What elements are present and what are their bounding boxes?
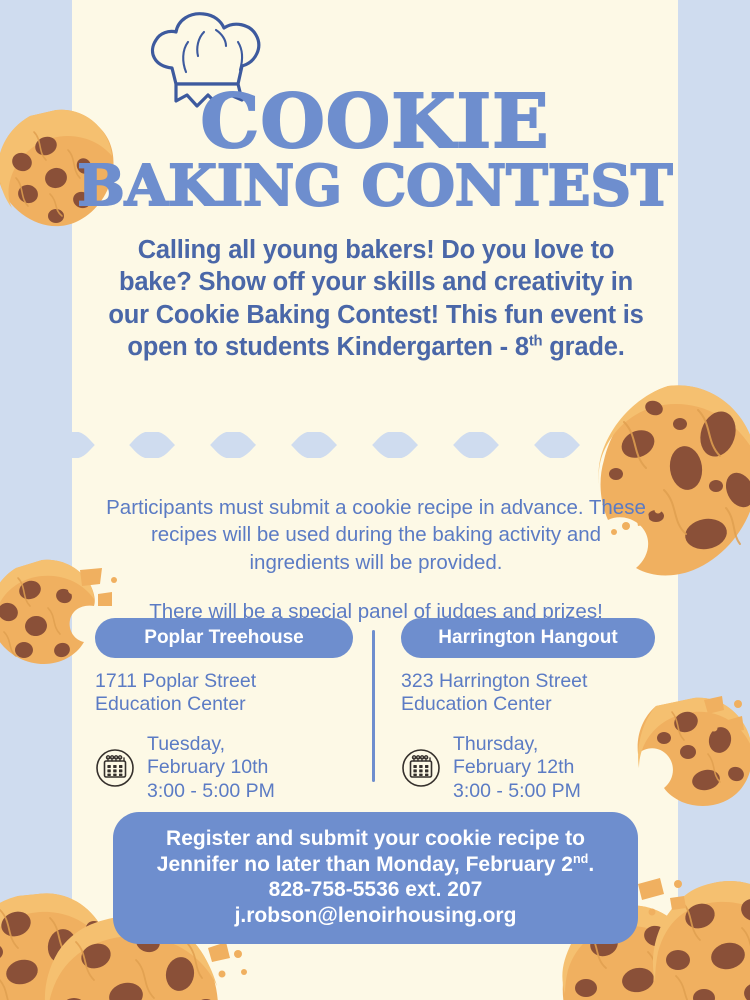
page-title-line1: COOKIE: [72, 88, 678, 156]
register-phone[interactable]: 828-758-5536 ext. 207: [129, 877, 622, 903]
wave-divider-bottom: [72, 433, 678, 459]
event-date: February 12th: [453, 756, 581, 779]
page-title-line2: BAKING CONTEST: [72, 158, 678, 214]
event-time: 3:00 - 5:00 PM: [453, 780, 581, 803]
register-line-2: Jennifer no later than Monday, February …: [129, 852, 622, 878]
event-day: Thursday,: [453, 733, 581, 756]
locations-section: Poplar Treehouse 1711 Poplar Street Educ…: [95, 618, 655, 803]
register-email[interactable]: j.robson@lenoirhousing.org: [129, 903, 622, 929]
intro-paragraph: Calling all young bakers! Do you love to…: [105, 234, 647, 364]
event-time: 3:00 - 5:00 PM: [147, 780, 275, 803]
location-block-harrington-hangout: Harrington Hangout 323 Harrington Street…: [375, 618, 655, 803]
event-date: February 10th: [147, 756, 275, 779]
calendar-icon: [401, 748, 441, 788]
body-paragraph-1: Participants must submit a cookie recipe…: [100, 494, 652, 576]
address-line1: 323 Harrington Street: [401, 670, 655, 693]
address-line2: Education Center: [95, 693, 353, 716]
title-block: COOKIE BAKING CONTEST: [72, 88, 678, 214]
location-schedule-poplar: Tuesday, February 10th 3:00 - 5:00 PM: [95, 733, 353, 803]
location-block-poplar-treehouse: Poplar Treehouse 1711 Poplar Street Educ…: [95, 618, 375, 803]
calendar-icon: [95, 748, 135, 788]
body-block: Participants must submit a cookie recipe…: [100, 494, 652, 625]
location-datetime-poplar: Tuesday, February 10th 3:00 - 5:00 PM: [147, 733, 275, 803]
register-deadline-text: Jennifer no later than Monday, February …: [157, 853, 573, 876]
location-name-pill-harrington[interactable]: Harrington Hangout: [401, 618, 655, 658]
location-address-poplar: 1711 Poplar Street Education Center: [95, 670, 353, 717]
intro-text-after: grade.: [542, 333, 624, 361]
address-line2: Education Center: [401, 693, 655, 716]
crumb-cluster-right: [694, 694, 750, 748]
register-line-1: Register and submit your cookie recipe t…: [129, 826, 622, 852]
registration-callout: Register and submit your cookie recipe t…: [113, 812, 638, 944]
crumb-cluster-botleft: [200, 938, 252, 986]
register-ordinal-suffix: nd: [573, 852, 588, 866]
location-datetime-harrington: Thursday, February 12th 3:00 - 5:00 PM: [453, 733, 581, 803]
location-address-harrington: 323 Harrington Street Education Center: [401, 670, 655, 717]
location-schedule-harrington: Thursday, February 12th 3:00 - 5:00 PM: [401, 733, 655, 803]
intro-ordinal-suffix: th: [529, 334, 543, 350]
address-line1: 1711 Poplar Street: [95, 670, 353, 693]
register-line2-period: .: [588, 853, 594, 876]
event-day: Tuesday,: [147, 733, 275, 756]
flyer-poster: COOKIE BAKING CONTEST Calling all young …: [0, 0, 750, 1000]
location-name-pill-poplar[interactable]: Poplar Treehouse: [95, 618, 353, 658]
